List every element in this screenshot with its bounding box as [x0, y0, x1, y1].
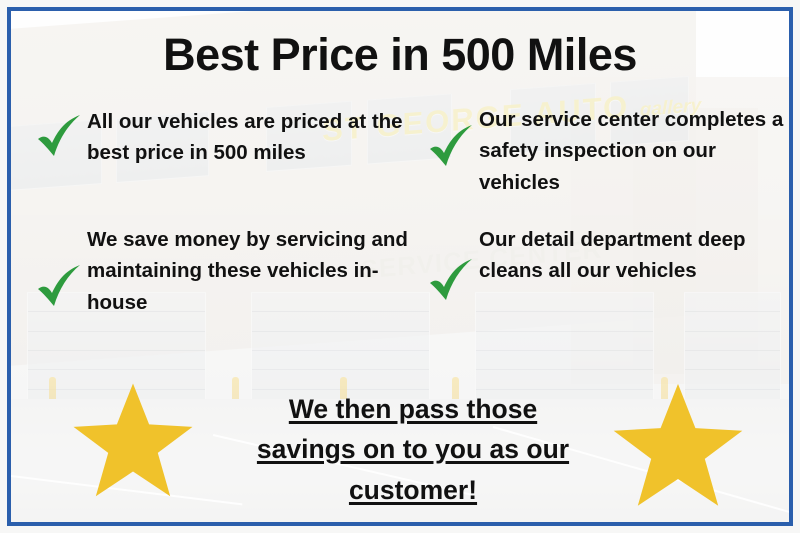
star-icon: [611, 381, 745, 515]
check-icon: [33, 262, 85, 314]
benefit-item-best-price: All our vehicles are priced at the best …: [33, 104, 425, 198]
check-icon: [425, 122, 477, 174]
benefit-text: Our service center completes a safety in…: [479, 104, 789, 198]
check-icon: [425, 256, 477, 308]
tagline-line-1: We then pass those: [289, 394, 537, 424]
benefit-item-in-house-service: We save money by servicing and maintaini…: [33, 224, 425, 318]
star-icon: [71, 381, 195, 505]
benefits-row-2: We save money by servicing and maintaini…: [33, 224, 789, 318]
check-icon: [33, 112, 85, 164]
benefits-grid: All our vehicles are priced at the best …: [33, 104, 789, 318]
benefits-row-1: All our vehicles are priced at the best …: [33, 104, 789, 198]
poster-frame: ST GEORGE AUTO gallery SERVICE CENTER: [7, 7, 793, 526]
poster: ST GEORGE AUTO gallery SERVICE CENTER: [0, 0, 800, 533]
benefit-text: Our detail department deep cleans all ou…: [479, 224, 789, 287]
tagline-text: We then pass those savings on to you as …: [207, 389, 619, 510]
tagline-section: We then pass those savings on to you as …: [11, 379, 789, 519]
benefit-item-detail-department: Our detail department deep cleans all ou…: [425, 224, 789, 318]
page-title: Best Price in 500 Miles: [11, 31, 789, 78]
benefit-text: All our vehicles are priced at the best …: [87, 104, 421, 169]
tagline-line-3: customer!: [349, 475, 477, 505]
poster-content: Best Price in 500 Miles All our vehicles…: [11, 11, 789, 522]
benefit-text: We save money by servicing and maintaini…: [87, 224, 421, 318]
benefit-item-safety-inspection: Our service center completes a safety in…: [425, 104, 789, 198]
tagline-line-2: savings on to you as our: [257, 434, 569, 464]
